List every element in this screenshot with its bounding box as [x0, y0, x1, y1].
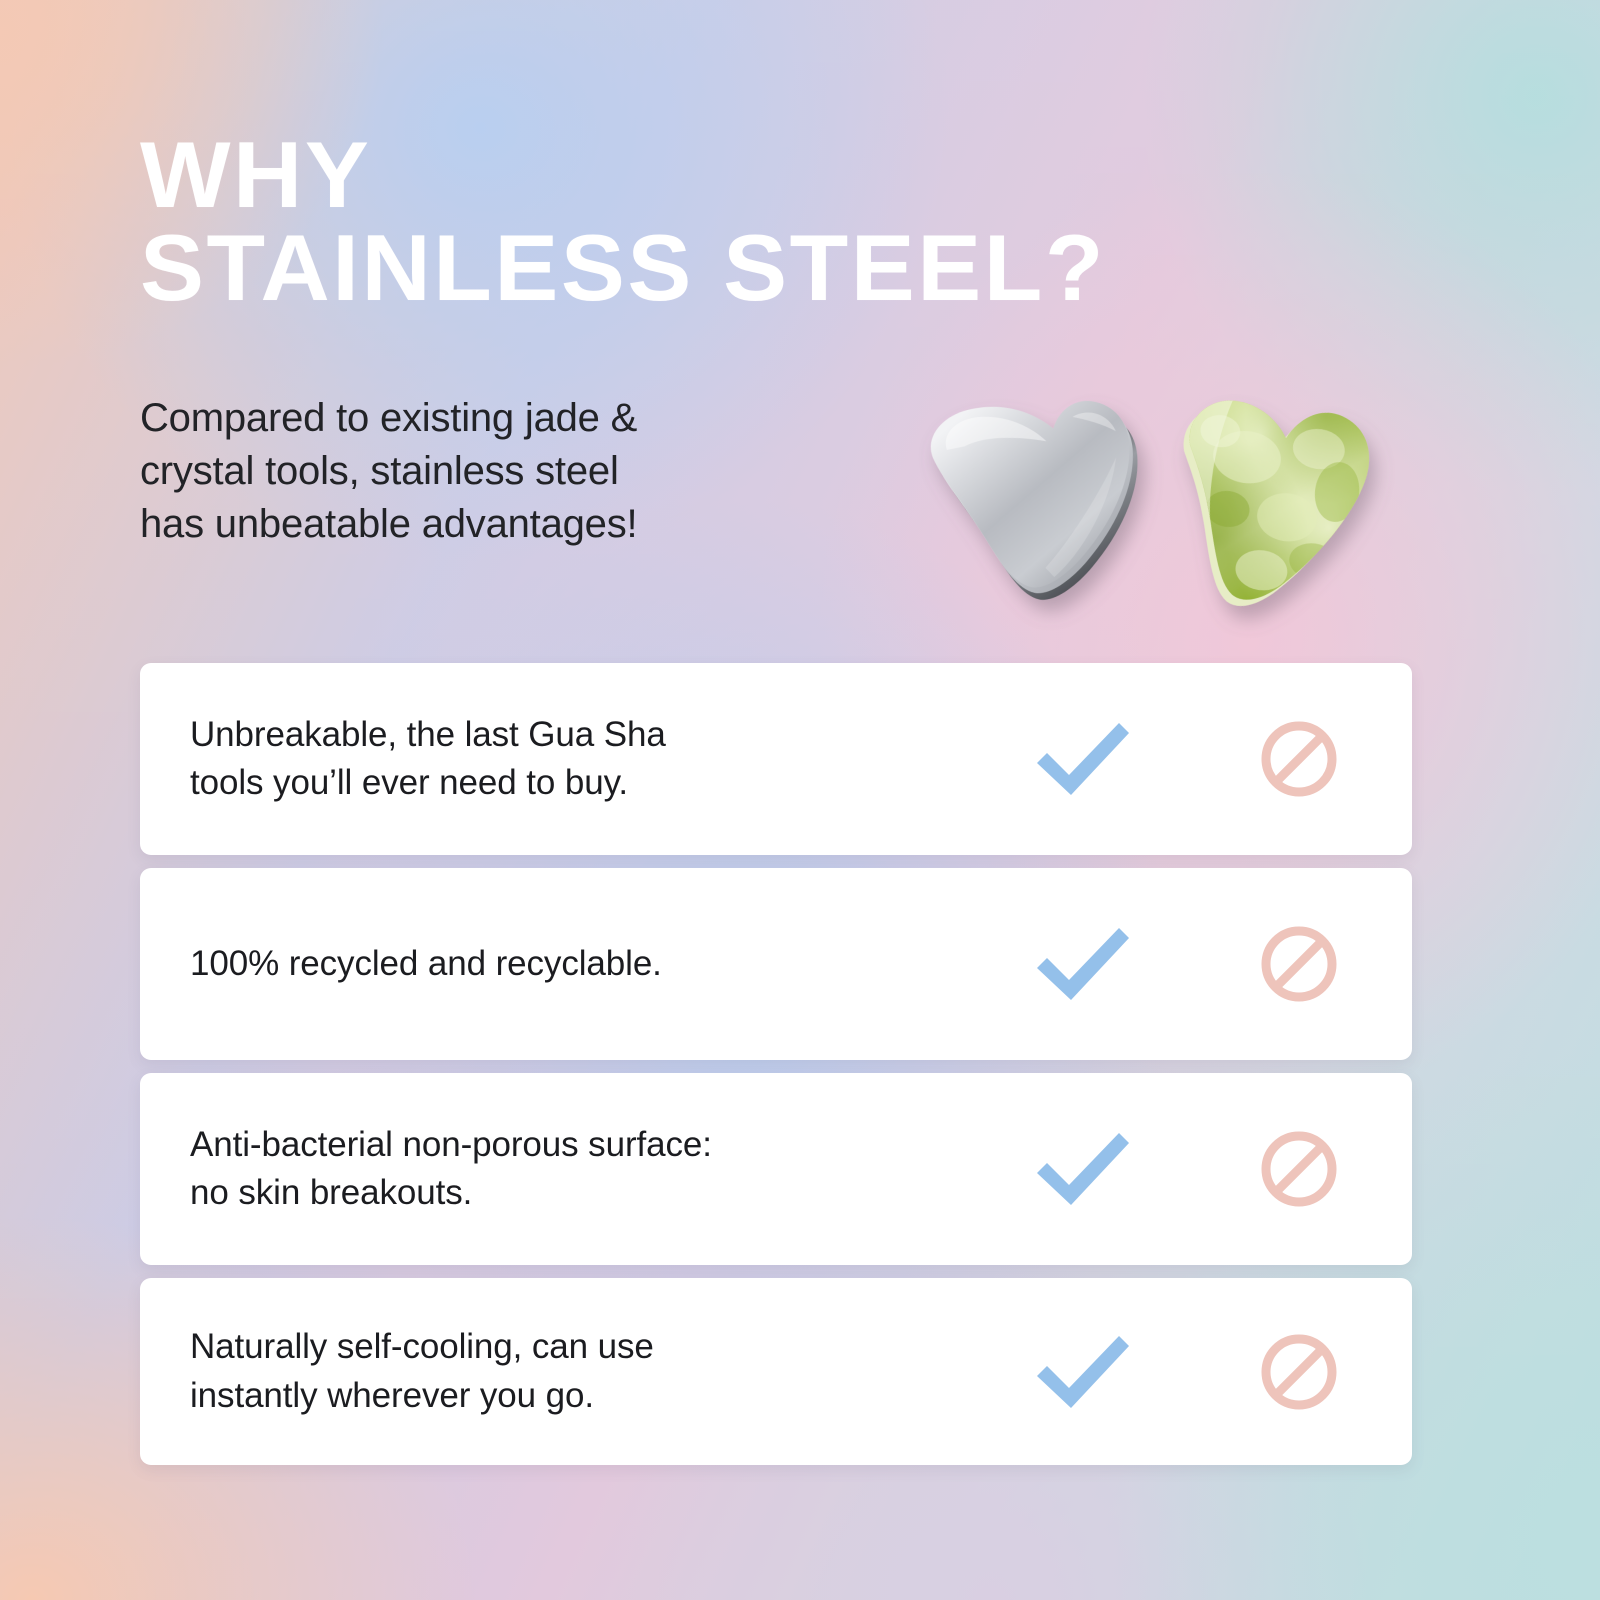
jade-crystal-cell: [1224, 718, 1374, 800]
jade-crystal-cell: [1224, 1128, 1374, 1210]
stainless-steel-cell: [1008, 717, 1158, 801]
feature-text: Anti-bacterial non-porous surface: no sk…: [140, 1121, 1008, 1218]
feature-text: Unbreakable, the last Gua Sha tools you’…: [140, 711, 1008, 808]
feature-text: 100% recycled and recyclable.: [140, 940, 1008, 988]
stainless-steel-gua-sha-image: [918, 373, 1168, 623]
prohibited-icon: [1258, 1128, 1340, 1210]
check-icon: [1031, 717, 1135, 801]
jade-crystal-cell: [1224, 1331, 1374, 1413]
prohibited-icon: [1258, 1331, 1340, 1413]
comparison-table: Unbreakable, the last Gua Sha tools you’…: [140, 663, 1412, 1478]
page-subtitle: Compared to existing jade & crystal tool…: [140, 392, 637, 550]
table-row: Anti-bacterial non-porous surface: no sk…: [140, 1073, 1412, 1265]
check-icon: [1031, 922, 1135, 1006]
stainless-steel-cell: [1008, 1127, 1158, 1211]
check-icon: [1031, 1330, 1135, 1414]
table-row: Naturally self-cooling, can use instantl…: [140, 1278, 1412, 1465]
prohibited-icon: [1258, 718, 1340, 800]
table-row: 100% recycled and recyclable.: [140, 868, 1412, 1060]
page-title: WHY STAINLESS STEEL?: [140, 128, 1106, 314]
table-row: Unbreakable, the last Gua Sha tools you’…: [140, 663, 1412, 855]
product-images: [900, 355, 1420, 620]
jade-gua-sha-image: [1172, 365, 1402, 615]
stainless-steel-cell: [1008, 1330, 1158, 1414]
jade-crystal-cell: [1224, 923, 1374, 1005]
prohibited-icon: [1258, 923, 1340, 1005]
check-icon: [1031, 1127, 1135, 1211]
feature-text: Naturally self-cooling, can use instantl…: [140, 1323, 1008, 1420]
stainless-steel-cell: [1008, 922, 1158, 1006]
